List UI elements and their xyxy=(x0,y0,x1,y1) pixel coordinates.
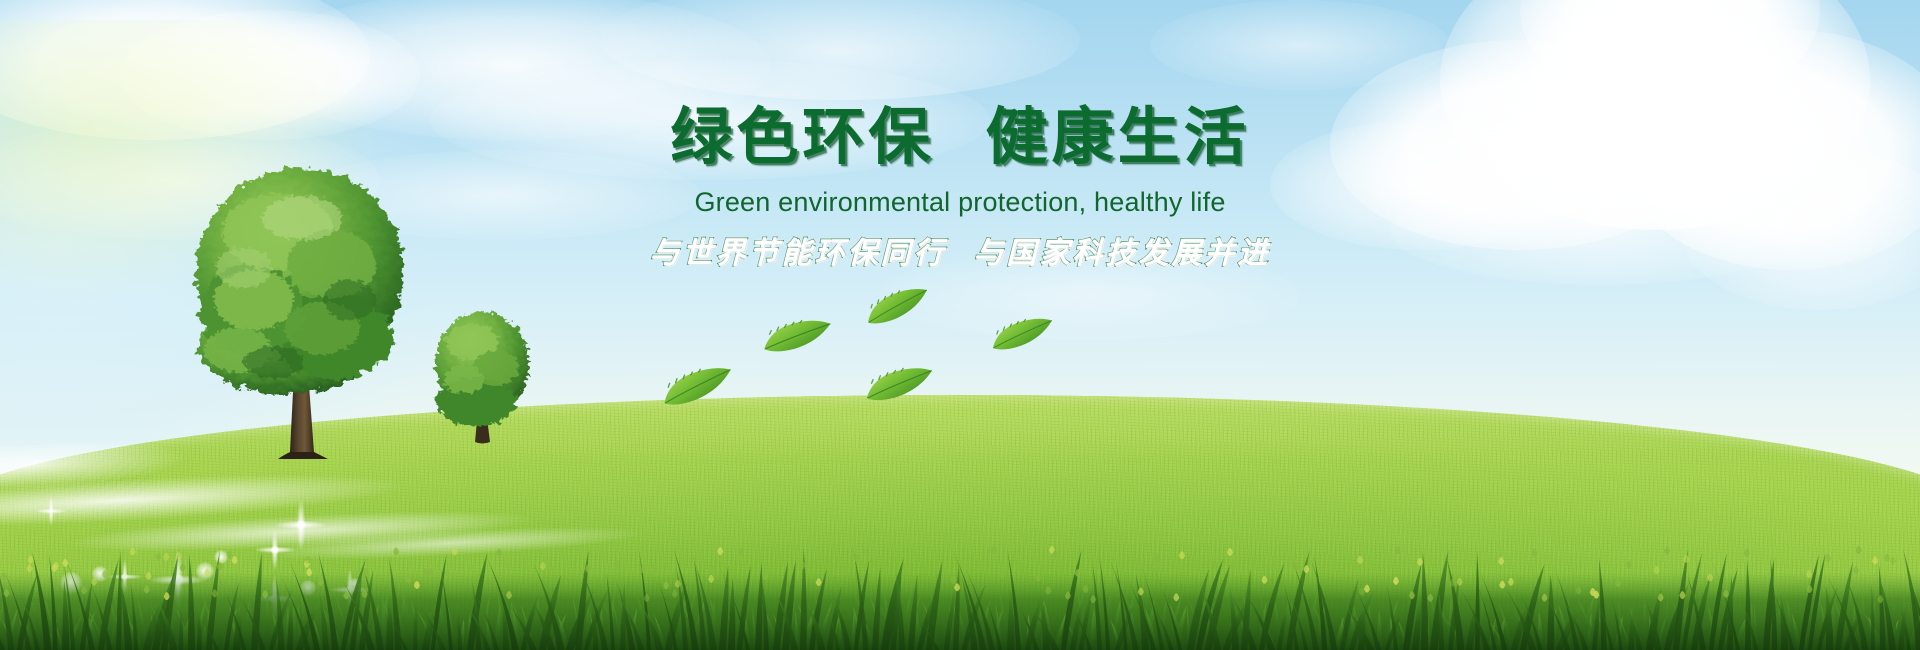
small-tree xyxy=(428,306,536,448)
large-tree xyxy=(182,160,422,460)
watermark-texture xyxy=(0,452,150,512)
banner-text-block: 绿色环保 健康生活 Green environmental protection… xyxy=(480,104,1440,272)
page-title: 绿色环保 健康生活 xyxy=(480,104,1440,171)
subtitle-english: Green environmental protection, healthy … xyxy=(480,187,1440,218)
tagline-calligraphy: 与世界节能环保同行 与国家科技发展并进 xyxy=(480,228,1440,272)
eco-banner: 绿色环保 健康生活 Green environmental protection… xyxy=(0,0,1920,650)
foreground-grass xyxy=(0,520,1920,650)
